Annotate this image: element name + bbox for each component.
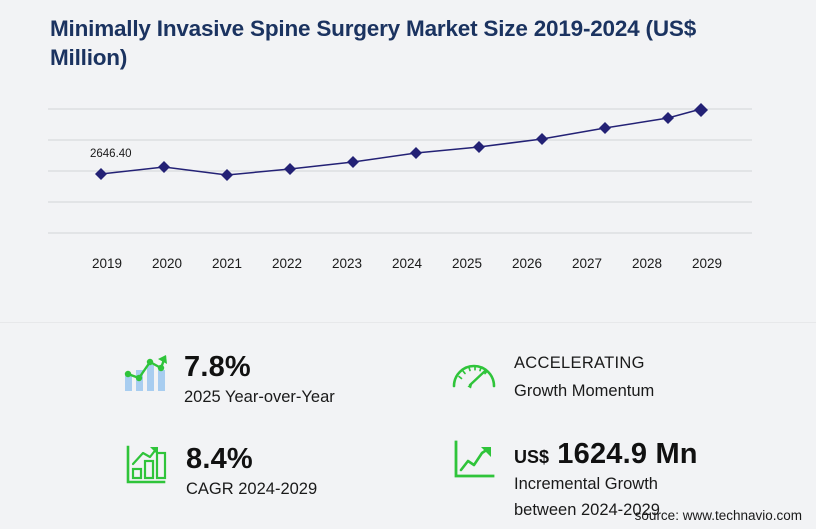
x-tick-2021: 2021: [212, 256, 242, 271]
chart-point-label: 2646.40: [90, 148, 132, 160]
trend-up-axis-icon: [448, 438, 500, 482]
x-tick-2026: 2026: [512, 256, 542, 271]
incremental-unit-prefix: US$: [514, 447, 549, 467]
cagr-value: 8.4%: [186, 444, 317, 475]
x-tick-2020: 2020: [152, 256, 182, 271]
momentum-label: Growth Momentum: [514, 380, 654, 402]
cagr-label: CAGR 2024-2029: [186, 478, 317, 500]
x-tick-2024: 2024: [392, 256, 423, 271]
yoy-label: 2025 Year-over-Year: [184, 386, 335, 408]
chart-x-axis-labels: 2019 2020 2021 2022 2023 2024 2025 2026 …: [92, 256, 722, 271]
stat-text-group: 8.4% CAGR 2024-2029: [186, 443, 317, 501]
stat-card-growth-momentum: ACCELERATING Growth Momentum: [448, 351, 654, 403]
x-tick-2023: 2023: [332, 256, 362, 271]
yoy-value: 7.8%: [184, 352, 335, 383]
line-chart: 2646.40 2019 2020 2021 2022 2023 2024 20…: [0, 95, 816, 285]
page-title: Minimally Invasive Spine Surgery Market …: [50, 14, 750, 73]
chart-gridlines: [48, 109, 752, 233]
momentum-value: ACCELERATING: [514, 352, 654, 374]
stat-card-year-over-year: 7.8% 2025 Year-over-Year: [118, 351, 335, 409]
page-title-block: Minimally Invasive Spine Surgery Market …: [50, 14, 750, 73]
speedometer-icon: [448, 351, 500, 395]
x-tick-2019: 2019: [92, 256, 122, 271]
stat-text-group: ACCELERATING Growth Momentum: [514, 351, 654, 403]
x-tick-2022: 2022: [272, 256, 302, 271]
stats-panel: 7.8% 2025 Year-over-Year ACCELERA: [0, 322, 816, 529]
stat-card-cagr: 8.4% CAGR 2024-2029: [120, 443, 317, 501]
bar-chart-arrow-icon: [120, 443, 172, 487]
x-tick-2025: 2025: [452, 256, 482, 271]
incremental-amount: 1624.9 Mn: [557, 438, 697, 470]
x-tick-2027: 2027: [572, 256, 602, 271]
source-attribution: source: www.technavio.com: [635, 508, 802, 523]
x-tick-2029: 2029: [692, 256, 722, 271]
incremental-label-line1: Incremental Growth: [514, 473, 698, 495]
x-tick-2028: 2028: [632, 256, 662, 271]
chart-series-line: [101, 109, 701, 175]
incremental-value: US$ 1624.9 Mn: [514, 439, 698, 470]
chart-canvas: 2646.40 2019 2020 2021 2022 2023 2024 20…: [0, 95, 816, 285]
stat-text-group: 7.8% 2025 Year-over-Year: [184, 351, 335, 409]
bar-line-growth-icon: [118, 351, 170, 395]
